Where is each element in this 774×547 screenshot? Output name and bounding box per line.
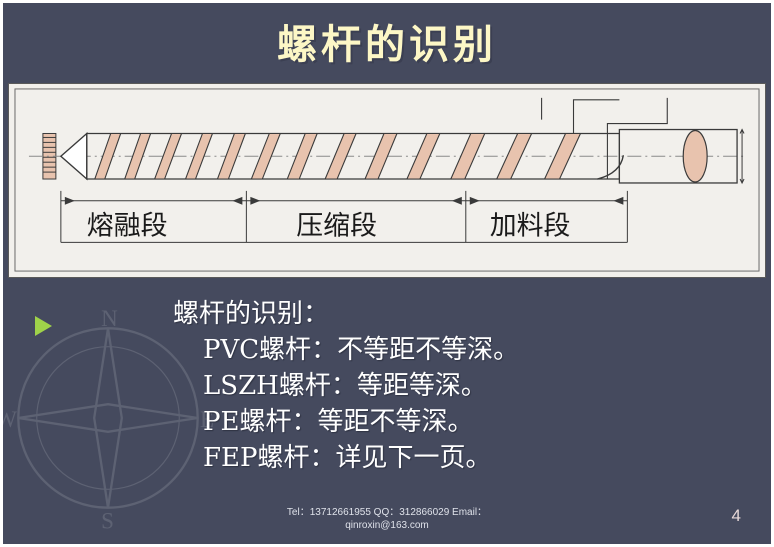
page-number: 4	[732, 506, 741, 526]
slide: N S W E 螺杆的识别	[0, 0, 774, 547]
content-line-pvc: PVC螺杆：不等距不等深。	[173, 332, 519, 368]
footer-contact: Tel：13712661955 QQ：312866029 Email： qinr…	[3, 506, 771, 532]
content-text-block: 螺杆的识别： PVC螺杆：不等距不等深。 LSZH螺杆：等距等深。 PE螺杆：等…	[173, 296, 519, 476]
content-line-pe: PE螺杆：等距不等深。	[173, 404, 519, 440]
figure-caption-compression: 压缩段	[296, 211, 377, 242]
footer-line-2: qinroxin@163.com	[3, 519, 771, 532]
content-line-fep: FEP螺杆：详见下一页。	[173, 440, 519, 476]
figure-caption-feeding: 加料段	[490, 211, 571, 242]
content-heading: 螺杆的识别：	[173, 296, 519, 332]
content-area: 螺杆的识别： PVC螺杆：不等距不等深。 LSZH螺杆：等距等深。 PE螺杆：等…	[3, 288, 771, 513]
screw-diagram-panel: 熔融段 压缩段 加料段	[8, 83, 766, 278]
footer-line-1: Tel：13712661955 QQ：312866029 Email：	[3, 506, 771, 519]
screw-diagram: 熔融段 压缩段 加料段	[9, 84, 765, 277]
figure-caption-melting: 熔融段	[87, 211, 168, 242]
slide-title-bar: 螺杆的识别	[3, 3, 771, 78]
bullet-triangle-icon	[35, 316, 52, 336]
content-line-lszh: LSZH螺杆：等距等深。	[173, 368, 519, 404]
page-title: 螺杆的识别	[277, 12, 497, 70]
